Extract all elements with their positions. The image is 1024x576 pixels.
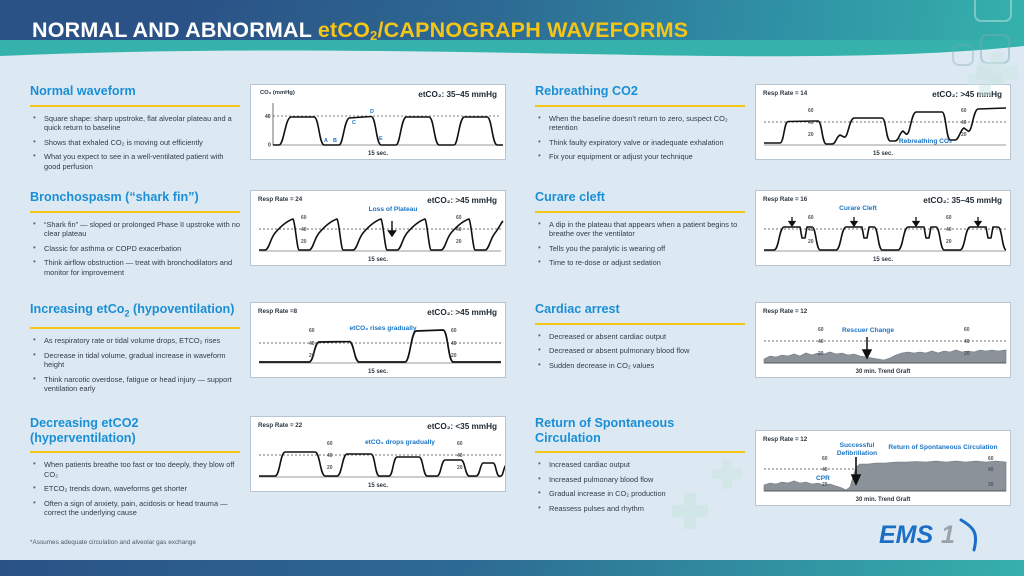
- page-title: NORMAL AND ABNORMAL etCO2/CAPNOGRAPH WAV…: [32, 18, 688, 43]
- chart-increasing-etco2: Resp Rate =8 etCO₂: >45 mmHg 60 40 20 60…: [250, 302, 506, 378]
- svg-text:40: 40: [301, 227, 307, 233]
- list-item: What you expect to see in a well-ventila…: [30, 152, 240, 171]
- bullet-list: When patients breathe too fast or too de…: [30, 460, 240, 518]
- section-title: Rebreathing CO2: [535, 84, 745, 103]
- list-item: Reassess pulses and rhythm: [535, 504, 745, 514]
- bullet-list: When the baseline doesn’t return to zero…: [535, 114, 745, 162]
- cross-watermark-1: [672, 493, 708, 529]
- svg-text:20: 20: [946, 239, 952, 245]
- bullet-list: A dip in the plateau that appears when a…: [535, 220, 745, 268]
- title-underline: [535, 105, 745, 107]
- section-title-rest: (hypoventilation): [130, 302, 235, 316]
- bullet-list: Decreased or absent cardiac output Decre…: [535, 332, 745, 371]
- svg-text:20: 20: [808, 239, 814, 245]
- section-increasing-etco2: Increasing etCo2 (hypoventilation) As re…: [30, 302, 506, 399]
- list-item: Decreased or absent cardiac output: [535, 332, 745, 342]
- section-title: Return of Spontaneous Circulation: [535, 416, 745, 449]
- svg-text:60: 60: [451, 328, 457, 334]
- ems1-logo: EMS 1: [879, 518, 994, 552]
- svg-text:20: 20: [327, 465, 333, 471]
- svg-text:40: 40: [808, 227, 814, 233]
- chart-annotation-cpr: CPR: [816, 475, 830, 482]
- list-item: Classic for asthma or COPD exacerbation: [30, 244, 240, 254]
- list-item: Decreased or absent pulmonary blood flow: [535, 346, 745, 356]
- svg-text:1: 1: [941, 521, 955, 549]
- list-item: Gradual increase in CO₂ production: [535, 489, 745, 499]
- waveform-rebreathing: 60 40 20 60 40 20: [756, 85, 1011, 160]
- section-curare-cleft: Curare cleft A dip in the plateau that a…: [535, 190, 1011, 273]
- svg-text:60: 60: [808, 108, 814, 114]
- list-item: When patients breathe too fast or too de…: [30, 460, 240, 479]
- section-title-line1: Return of Spontaneous: [535, 416, 745, 431]
- section-text-column: Decreasing etCO2 (hyperventilation) When…: [30, 416, 240, 523]
- svg-text:40: 40: [457, 453, 463, 459]
- svg-text:60: 60: [456, 215, 462, 221]
- section-title-main: Increasing etCo: [30, 302, 124, 316]
- svg-text:40: 40: [818, 339, 824, 345]
- section-title-rest: (hyperventilation): [30, 431, 136, 445]
- title-underline: [30, 451, 240, 453]
- cross-watermark-2: [712, 459, 742, 489]
- annotation-line2: Defibrillation: [828, 450, 886, 458]
- title-underline: [535, 211, 745, 213]
- waveform-increasing: 60 40 20 60 40 20: [251, 303, 506, 378]
- chart-time-label: 15 sec.: [756, 257, 1010, 263]
- section-title-main: Decreasing etCO2: [30, 416, 139, 430]
- chart-time-label: 30 min. Trend Graft: [756, 369, 1010, 375]
- svg-text:C: C: [352, 120, 356, 126]
- svg-text:20: 20: [808, 132, 814, 138]
- list-item: When the baseline doesn’t return to zero…: [535, 114, 745, 133]
- section-title: Cardiac arrest: [535, 302, 745, 321]
- section-text-column: Curare cleft A dip in the plateau that a…: [535, 190, 745, 273]
- section-text-column: Rebreathing CO2 When the baseline doesn’…: [535, 84, 745, 167]
- section-cardiac-arrest: Cardiac arrest Decreased or absent cardi…: [535, 302, 1011, 378]
- svg-text:40: 40: [456, 227, 462, 233]
- chart-annotation-defib: Successful Defibrillation: [828, 442, 886, 458]
- svg-text:40: 40: [327, 453, 333, 459]
- chart-time-label: 15 sec.: [251, 151, 505, 157]
- chart-time-label: 15 sec.: [251, 257, 505, 263]
- section-rebreathing-co2: Rebreathing CO2 When the baseline doesn’…: [535, 84, 1011, 167]
- svg-text:20: 20: [451, 353, 457, 359]
- chart-time-label: 30 min. Trend Graft: [756, 497, 1010, 503]
- bullet-list: Square shape: sharp upstroke, flat alveo…: [30, 114, 240, 172]
- trend-graph-cardiac-arrest: 60 40 20 60 40 20: [756, 303, 1011, 378]
- svg-text:20: 20: [961, 132, 967, 138]
- svg-text:40: 40: [265, 114, 271, 120]
- svg-text:40: 40: [964, 339, 970, 345]
- list-item: Time to re-dose or adjust sedation: [535, 258, 745, 268]
- svg-text:60: 60: [327, 441, 333, 447]
- list-item: Decrease in tidal volume, gradual increa…: [30, 351, 240, 370]
- svg-text:60: 60: [301, 215, 307, 221]
- list-item: Often a sign of anxiety, pain, acidosis …: [30, 499, 240, 518]
- svg-text:40: 40: [808, 120, 814, 126]
- svg-text:20: 20: [964, 351, 970, 357]
- chart-bronchospasm: Resp Rate = 24 etCO₂: >45 mmHg 60 40 20 …: [250, 190, 506, 266]
- chart-annotation: Rescuer Change: [832, 327, 904, 334]
- header-curve-decoration: [0, 40, 1024, 76]
- svg-text:0: 0: [268, 143, 271, 149]
- chart-annotation-rosc: Return of Spontaneous Circulation: [884, 444, 1002, 451]
- list-item: Shows that exhaled CO₂ is moving out eff…: [30, 138, 240, 148]
- svg-text:40: 40: [946, 227, 952, 233]
- section-bronchospasm: Bronchospasm (“shark fin”) “Shark fin” —…: [30, 190, 506, 282]
- svg-text:60: 60: [818, 327, 824, 333]
- chart-time-label: 15 sec.: [251, 369, 505, 375]
- list-item: Sudden decrease in CO₂ values: [535, 361, 745, 371]
- title-underline: [30, 211, 240, 213]
- page-title-normal: NORMAL AND ABNORMAL: [32, 18, 318, 42]
- svg-text:60: 60: [988, 456, 994, 462]
- section-title: Decreasing etCO2 (hyperventilation): [30, 416, 240, 449]
- svg-text:20: 20: [988, 482, 994, 488]
- svg-text:60: 60: [946, 215, 952, 221]
- svg-text:20: 20: [456, 239, 462, 245]
- waveform-bronchospasm: 60 40 20 60 40 20: [251, 191, 506, 266]
- svg-text:20: 20: [818, 351, 824, 357]
- svg-text:40: 40: [988, 467, 994, 473]
- header-square-decoration-1: [974, 0, 1012, 22]
- list-item: Think airflow obstruction — treat with b…: [30, 258, 240, 277]
- footer-gradient-band: [0, 560, 1024, 576]
- bullet-list: “Shark fin” — sloped or prolonged Phase …: [30, 220, 240, 278]
- section-text-column: Cardiac arrest Decreased or absent cardi…: [535, 302, 745, 378]
- svg-text:40: 40: [961, 120, 967, 126]
- chart-curare-cleft: Resp Rate = 16 etCO₂: 35–45 mmHg 60 40 2…: [755, 190, 1011, 266]
- list-item: Square shape: sharp upstroke, flat alveo…: [30, 114, 240, 133]
- svg-text:20: 20: [309, 353, 315, 359]
- title-underline: [535, 451, 745, 453]
- svg-text:D: D: [370, 109, 374, 115]
- svg-text:60: 60: [808, 215, 814, 221]
- svg-text:60: 60: [961, 108, 967, 114]
- chart-cardiac-arrest: Resp Rate = 12 60 40 20 60 40 20 Rescuer…: [755, 302, 1011, 378]
- svg-text:40: 40: [451, 341, 457, 347]
- svg-text:20: 20: [822, 482, 828, 488]
- chart-time-label: 15 sec.: [756, 151, 1010, 157]
- list-item: ETCO₂ trends down, waveforms get shorter: [30, 484, 240, 494]
- section-title: Bronchospasm (“shark fin”): [30, 190, 240, 209]
- waveform-decreasing: 60 40 20 60 40 20: [251, 417, 506, 492]
- section-rosc: Return of Spontaneous Circulation Increa…: [535, 416, 1011, 518]
- svg-text:40: 40: [822, 467, 828, 473]
- title-underline: [30, 327, 240, 329]
- svg-text:60: 60: [309, 328, 315, 334]
- sections-grid: Normal waveform Square shape: sharp upst…: [0, 78, 1024, 508]
- waveform-curare-cleft: 60 40 20 60 40 20: [756, 191, 1011, 266]
- list-item: As respiratory rate or tidal volume drop…: [30, 336, 240, 346]
- section-text-column: Increasing etCo2 (hypoventilation) As re…: [30, 302, 240, 399]
- chart-decreasing-etco2: Resp Rate = 22 etCO₂: <35 mmHg 60 40 20 …: [250, 416, 506, 492]
- chart-time-label: 15 sec.: [251, 483, 505, 489]
- bullet-list: As respiratory rate or tidal volume drop…: [30, 336, 240, 394]
- list-item: Think faulty expiratory valve or inadequ…: [535, 138, 745, 148]
- chart-normal-waveform: CO₂ (mmHg) etCO₂: 35–45 mmHg 40 0 A B C …: [250, 84, 506, 160]
- section-text-column: Normal waveform Square shape: sharp upst…: [30, 84, 240, 176]
- list-item: Tells you the paralytic is wearing off: [535, 244, 745, 254]
- waveform-normal: 40 0 A B C D E: [251, 85, 506, 160]
- svg-text:60: 60: [822, 456, 828, 462]
- chart-annotation: Curare Cleft: [830, 205, 886, 212]
- chart-annotation: Rebreathing CO₂: [899, 138, 952, 145]
- chart-annotation: Loss of Plateau: [355, 206, 431, 213]
- svg-text:E: E: [379, 136, 383, 142]
- list-item: A dip in the plateau that appears when a…: [535, 220, 745, 239]
- svg-text:60: 60: [457, 441, 463, 447]
- chart-annotation: etCO₂ rises gradually: [333, 325, 433, 332]
- list-item: Think narcotic overdose, fatigue or head…: [30, 375, 240, 394]
- section-normal-waveform: Normal waveform Square shape: sharp upst…: [30, 84, 506, 176]
- footnote: *Assumes adequate circulation and alveol…: [30, 539, 196, 546]
- svg-text:EMS: EMS: [879, 521, 934, 549]
- svg-text:20: 20: [301, 239, 307, 245]
- section-text-column: Bronchospasm (“shark fin”) “Shark fin” —…: [30, 190, 240, 282]
- chart-rosc: Resp Rate = 12 60 40 20 60 40 20 Success…: [755, 430, 1011, 506]
- section-title: Curare cleft: [535, 190, 745, 209]
- page-header: NORMAL AND ABNORMAL etCO2/CAPNOGRAPH WAV…: [0, 0, 1024, 76]
- cross-watermark-3: [968, 62, 1002, 96]
- section-title-line2: Circulation: [535, 431, 745, 446]
- svg-text:20: 20: [457, 465, 463, 471]
- page-title-accent: etCO2/CAPNOGRAPH WAVEFORMS: [318, 18, 688, 42]
- svg-text:A: A: [324, 138, 328, 144]
- section-title: Increasing etCo2 (hypoventilation): [30, 302, 240, 325]
- title-underline: [30, 105, 240, 107]
- list-item: Fix your equipment or adjust your techni…: [535, 152, 745, 162]
- section-title: Normal waveform: [30, 84, 240, 103]
- annotation-line1: Successful: [828, 442, 886, 450]
- list-item: “Shark fin” — sloped or prolonged Phase …: [30, 220, 240, 239]
- svg-text:60: 60: [964, 327, 970, 333]
- svg-text:B: B: [333, 138, 337, 144]
- section-decreasing-etco2: Decreasing etCO2 (hyperventilation) When…: [30, 416, 506, 523]
- title-underline: [535, 323, 745, 325]
- chart-annotation: etCO₂ drops gradually: [347, 439, 453, 446]
- svg-text:40: 40: [309, 341, 315, 347]
